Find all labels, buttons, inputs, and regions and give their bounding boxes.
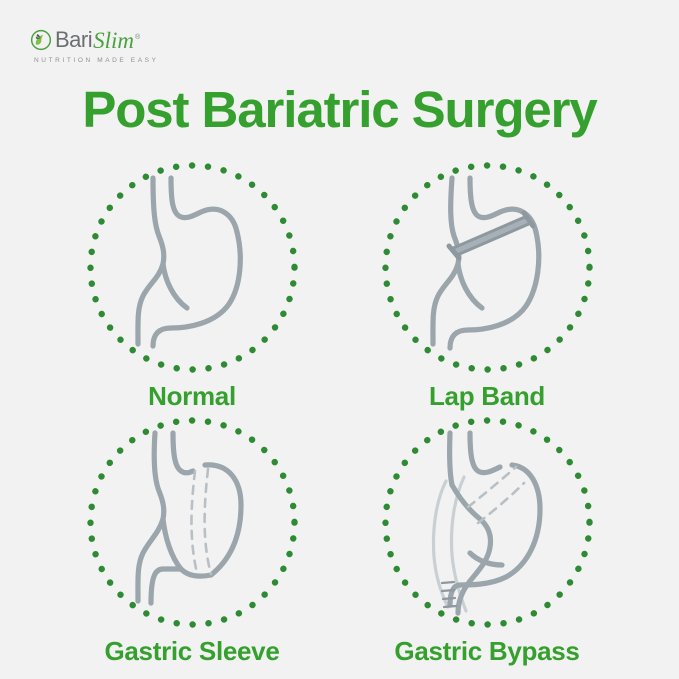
diagram-label-lap-band: Lap Band: [337, 381, 637, 412]
brand-tagline: NUTRITION MADE EASY: [34, 57, 159, 64]
diagram-grid: Normal: [0, 160, 679, 679]
brand-name-primary: Bari: [55, 29, 92, 51]
trademark-symbol: ®: [135, 34, 140, 41]
page-title: Post Bariatric Surgery: [0, 80, 679, 139]
stomach-lap-band-icon: [402, 168, 574, 368]
diagram-circle-gastric-bypass: [380, 415, 595, 630]
stomach-normal-icon: [107, 168, 279, 368]
brand-wordmark-row: Bari Slim ®: [30, 28, 140, 52]
diagram-cell-gastric-bypass: Gastric Bypass: [337, 415, 637, 675]
post-bariatric-surgery-infographic: { "colors": { "background": "#f2f2f2", "…: [0, 0, 679, 679]
diagram-cell-gastric-sleeve: Gastric Sleeve: [42, 415, 342, 675]
brand-name-secondary: Slim: [93, 29, 134, 52]
lap-band-strap: [449, 213, 533, 258]
stomach-gastric-bypass-icon: [402, 423, 574, 623]
diagram-label-gastric-bypass: Gastric Bypass: [337, 636, 637, 667]
diagram-circle-normal: [85, 160, 300, 375]
brand-logo: Bari Slim ® NUTRITION MADE EASY: [30, 28, 159, 64]
diagram-cell-lap-band: Lap Band: [337, 160, 637, 420]
diagram-circle-lap-band: [380, 160, 595, 375]
stomach-gastric-sleeve-icon: [107, 423, 279, 623]
diagram-cell-normal: Normal: [42, 160, 342, 420]
diagram-label-gastric-sleeve: Gastric Sleeve: [42, 636, 342, 667]
diagram-circle-gastric-sleeve: [85, 415, 300, 630]
leaf-circle-icon: [30, 29, 52, 51]
diagram-label-normal: Normal: [42, 381, 342, 412]
